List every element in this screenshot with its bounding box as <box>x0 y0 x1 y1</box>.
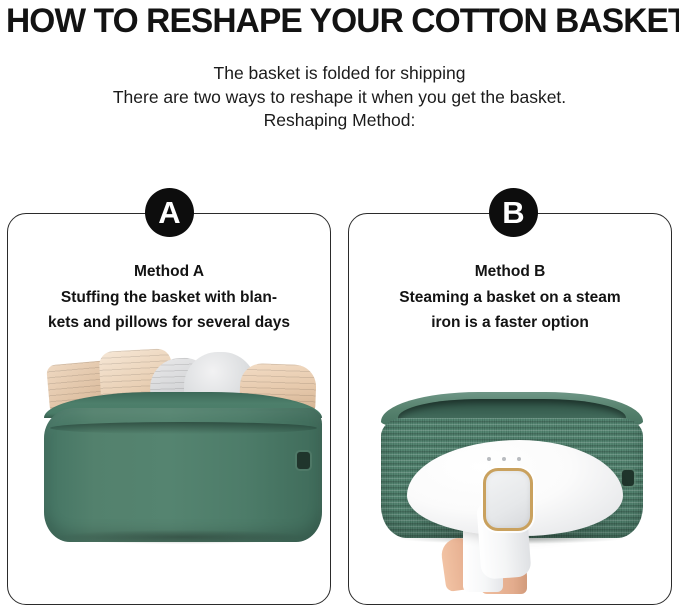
indicator-dot <box>487 457 491 461</box>
basket-handle-slot <box>622 470 634 486</box>
subtitle-block: The basket is folded for shipping There … <box>0 62 679 133</box>
indicator-dot <box>502 457 506 461</box>
steamer-indicator-dots <box>487 457 525 463</box>
indicator-dot <box>517 457 521 461</box>
method-b-photo <box>349 214 671 604</box>
basket-front-face <box>44 408 322 542</box>
subtitle-line-1: The basket is folded for shipping <box>0 62 679 86</box>
steamer-plate-gold-ring <box>483 468 533 531</box>
subtitle-line-2: There are two ways to reshape it when yo… <box>0 86 679 110</box>
panel-method-a: Method A Stuffing the basket with blan- … <box>7 213 331 605</box>
page-title: HOW TO RESHAPE YOUR COTTON BASKET <box>6 0 664 42</box>
basket-inner-shadow <box>50 422 317 434</box>
handheld-garment-steamer <box>407 440 623 560</box>
cotton-rope-basket-filled <box>44 392 322 542</box>
method-a-photo <box>8 214 330 604</box>
basket-ground-shadow <box>56 530 308 544</box>
basket-a-scene <box>26 354 304 554</box>
panel-method-b: Method B Steaming a basket on a steam ir… <box>348 213 672 605</box>
basket-handle-slot <box>297 452 310 469</box>
subtitle-line-3: Reshaping Method: <box>0 109 679 133</box>
badge-method-a: A <box>145 188 194 237</box>
badge-method-b: B <box>489 188 538 237</box>
basket-b-scene <box>349 364 672 605</box>
